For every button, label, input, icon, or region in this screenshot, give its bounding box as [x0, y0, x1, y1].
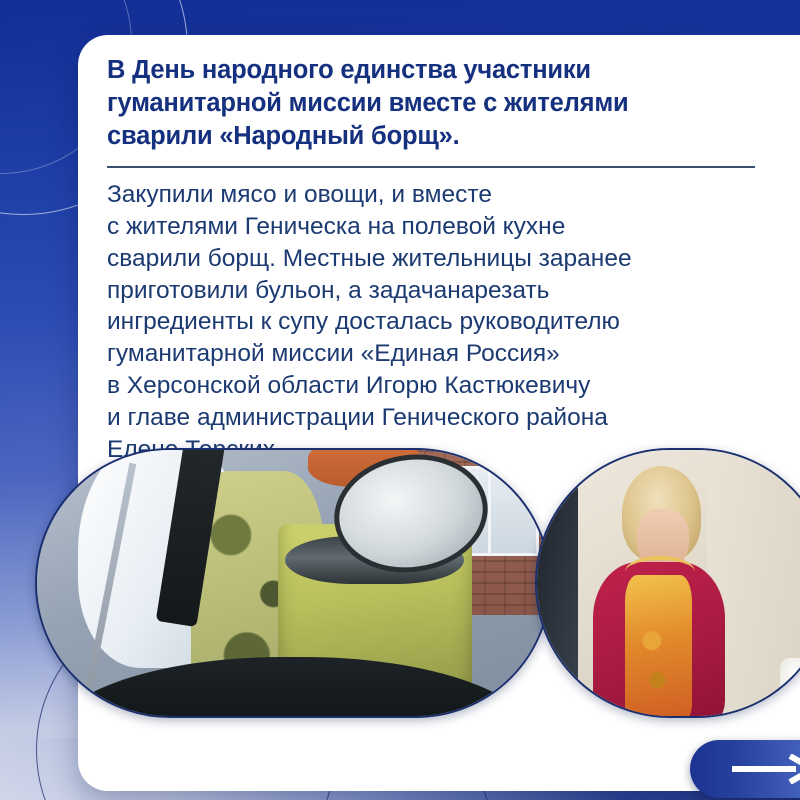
title-divider: [107, 166, 755, 168]
page-title: В День народного единства участники гума…: [107, 54, 735, 153]
field-kitchen-photo-content: [37, 450, 549, 716]
content-card: В День народного единства участники гума…: [78, 35, 800, 791]
woman-cooking-photo-content: [537, 450, 800, 716]
woman-cooking-photo: [535, 448, 800, 718]
patterned-apron: [625, 575, 692, 718]
body-text: Закупили мясо и овощи, и вместе с жителя…: [107, 179, 787, 466]
arrow-right-icon: [730, 754, 800, 784]
paper-roll: [780, 658, 800, 711]
next-slide-button[interactable]: [690, 740, 800, 798]
photo-left-shadow: [537, 450, 578, 716]
photo-strip: [35, 448, 800, 718]
field-kitchen-photo: [35, 448, 551, 718]
